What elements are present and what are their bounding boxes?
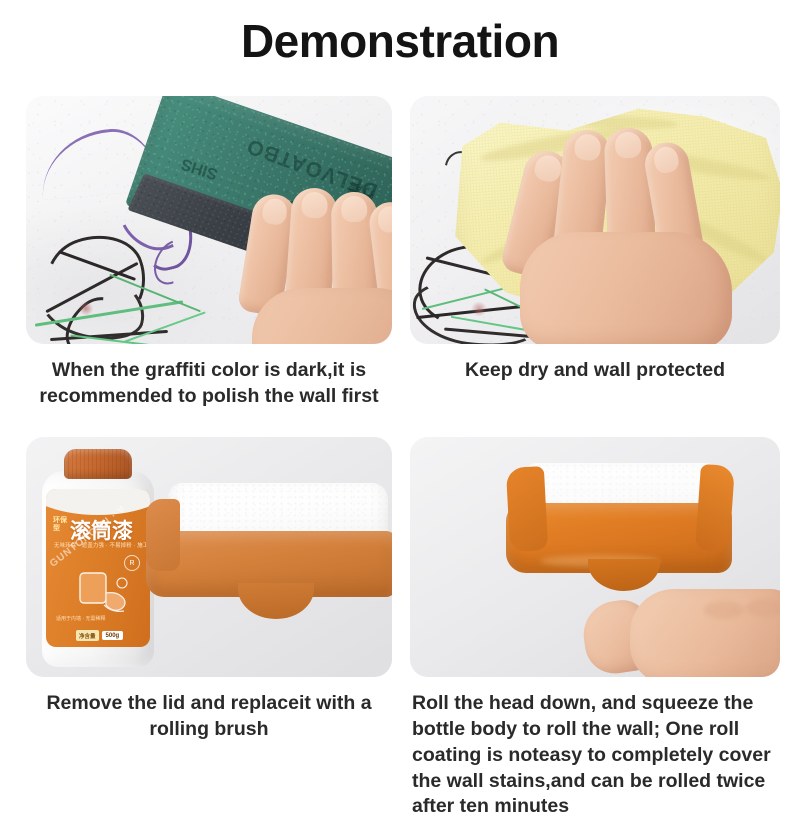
palm	[252, 288, 392, 344]
label-side-text: 环保型	[53, 517, 69, 532]
step-2-photo	[410, 96, 780, 344]
weight-value: 500g	[102, 631, 124, 640]
knuckle	[704, 601, 744, 619]
palm	[630, 589, 780, 677]
demonstration-page: Demonstration	[0, 0, 800, 800]
demo-step-1: DELVOATBO SIHS 砂纸 打磨	[0, 96, 400, 409]
demo-step-2: Keep dry and wall protected	[400, 96, 800, 409]
page-title: Demonstration	[0, 14, 800, 68]
demo-step-3: 环保型 滚筒漆 无味环保 · 遮盖力强 · 不易掉粉 · 施工简便 GUNTON…	[0, 437, 400, 820]
hand	[240, 192, 392, 344]
paint-bottle: 环保型 滚筒漆 无味环保 · 遮盖力强 · 不易掉粉 · 施工简便 GUNTON…	[42, 449, 154, 667]
graffiti-red-smudge	[470, 302, 488, 316]
weight-tag-label: 净含量	[76, 630, 99, 641]
demo-grid: DELVOATBO SIHS 砂纸 打磨	[0, 96, 800, 820]
step-3-photo: 环保型 滚筒漆 无味环保 · 遮盖力强 · 不易掉粉 · 施工简便 GUNTON…	[26, 437, 392, 677]
roller-brush	[146, 483, 392, 643]
step-2-caption: Keep dry and wall protected	[410, 344, 780, 384]
roller-arm	[146, 499, 180, 571]
knuckle	[746, 599, 780, 617]
roller-arm	[506, 467, 548, 553]
label-footer-text: 适用于内墙 · 无需稀释	[56, 616, 105, 624]
demo-row-2: 环保型 滚筒漆 无味环保 · 遮盖力强 · 不易掉粉 · 施工简便 GUNTON…	[0, 437, 800, 820]
bottle-label: 环保型 滚筒漆 无味环保 · 遮盖力强 · 不易掉粉 · 施工简便 GUNTON…	[46, 489, 150, 647]
step-1-photo: DELVOATBO SIHS 砂纸 打磨	[26, 96, 392, 344]
step-4-photo	[410, 437, 780, 677]
hand	[578, 587, 780, 677]
label-weight-badge: 净含量 500g	[76, 630, 123, 641]
step-4-caption: Roll the head down, and squeeze the bott…	[410, 677, 780, 820]
step-3-caption: Remove the lid and replaceit with a roll…	[26, 677, 392, 742]
hand	[510, 120, 760, 344]
bottle-cap	[64, 449, 132, 479]
graffiti-red-smudge	[78, 302, 94, 315]
roller-stem	[238, 583, 314, 619]
roller-arm	[695, 464, 735, 552]
demo-step-4: Roll the head down, and squeeze the bott…	[400, 437, 800, 820]
label-illustration	[74, 563, 136, 621]
demo-row-1: DELVOATBO SIHS 砂纸 打磨	[0, 96, 800, 409]
palm	[520, 232, 732, 344]
step-1-caption: When the graffiti color is dark,it is re…	[26, 344, 392, 409]
label-arc-shape	[46, 489, 150, 515]
